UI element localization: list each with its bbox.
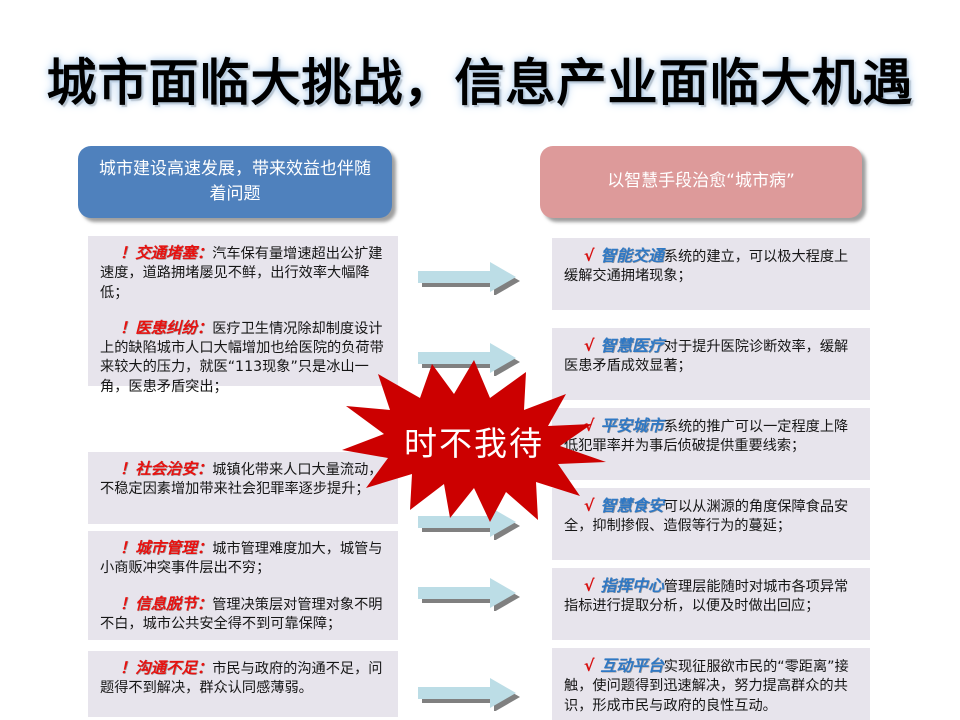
right-panel-6: √互动平台实现征服欲市民的“零距离”接触，使问题得到迅速解决，努力提高群众的共识… xyxy=(552,648,870,720)
list-item: √指挥中心管理层能随时对城市各项异常指标进行提取分析，以便及时做出回应； xyxy=(564,575,858,617)
list-item: ！交通堵塞：汽车保有量增速超出公扩建速度，道路拥堵屡见不鲜，出行效率大幅降低； xyxy=(100,243,386,303)
item-keyword: 平安城市 xyxy=(601,416,664,435)
list-item: ！信息脱节：管理决策层对管理对象不明不白，城市公共安全得不到可靠保障； xyxy=(100,594,386,635)
right-panel-5: √指挥中心管理层能随时对城市各项异常指标进行提取分析，以便及时做出回应； xyxy=(552,568,870,640)
item-keyword: ！医患纠纷： xyxy=(120,319,212,337)
list-item: √智能交通系统的建立，可以极大程度上缓解交通拥堵现象； xyxy=(564,245,858,287)
item-keyword: 指挥中心 xyxy=(601,576,664,595)
list-item: √智慧食安可以从渊源的角度保障食品安全，抑制掺假、造假等行为的蔓延； xyxy=(564,495,858,537)
header-pill-solutions: 以智慧手段治愈“城市病” xyxy=(540,146,862,218)
item-keyword: ！城市管理： xyxy=(120,539,212,557)
item-keyword: 互动平台 xyxy=(601,656,664,675)
starburst-callout: 时不我待 xyxy=(340,358,608,524)
left-panel-group-4: ！沟通不足：市民与政府的沟通不足，问题得不到解决，群众认同感薄弱。 xyxy=(88,651,398,717)
list-item: √平安城市系统的推广可以一定程度上降低犯罪率并为事后侦破提供重要线索； xyxy=(564,415,858,457)
right-arrow-icon xyxy=(412,673,522,711)
page-title: 城市面临大挑战，信息产业面临大机遇 xyxy=(0,56,960,111)
header-pill-solutions-label: 以智慧手段治愈“城市病” xyxy=(607,169,795,195)
slide-canvas: 城市面临大挑战，信息产业面临大机遇 城市建设高速发展，带来效益也伴随着问题 以智… xyxy=(0,0,960,720)
item-keyword: ！信息脱节： xyxy=(120,595,212,613)
item-keyword: 智慧医疗 xyxy=(601,336,664,355)
item-keyword: 智慧食安 xyxy=(601,496,664,515)
check-icon: √ xyxy=(584,656,601,675)
check-icon: √ xyxy=(584,336,601,355)
item-keyword: ！沟通不足： xyxy=(120,659,212,677)
check-icon: √ xyxy=(584,246,601,265)
list-item: √智慧医疗对于提升医院诊断效率，缓解医患矛盾成效显著； xyxy=(564,335,858,377)
starburst-shape xyxy=(340,358,608,524)
left-panel-group-3: ！城市管理：城市管理难度加大，城管与小商贩冲突事件层出不穷； ！信息脱节：管理决… xyxy=(88,531,398,640)
list-item: ！城市管理：城市管理难度加大，城管与小商贩冲突事件层出不穷； xyxy=(100,538,386,579)
right-arrow-icon xyxy=(412,257,522,295)
header-pill-problems-label: 城市建设高速发展，带来效益也伴随着问题 xyxy=(92,157,378,208)
right-arrow-icon xyxy=(412,573,522,611)
item-keyword: ！交通堵塞： xyxy=(120,244,212,262)
item-keyword: ！社会治安： xyxy=(120,460,212,478)
item-keyword: 智能交通 xyxy=(601,246,664,265)
header-pill-problems: 城市建设高速发展，带来效益也伴随着问题 xyxy=(78,146,392,218)
list-item: √互动平台实现征服欲市民的“零距离”接触，使问题得到迅速解决，努力提高群众的共识… xyxy=(564,655,858,716)
check-icon: √ xyxy=(584,576,601,595)
list-item: ！沟通不足：市民与政府的沟通不足，问题得不到解决，群众认同感薄弱。 xyxy=(100,658,386,699)
right-panel-1: √智能交通系统的建立，可以极大程度上缓解交通拥堵现象； xyxy=(552,238,870,310)
